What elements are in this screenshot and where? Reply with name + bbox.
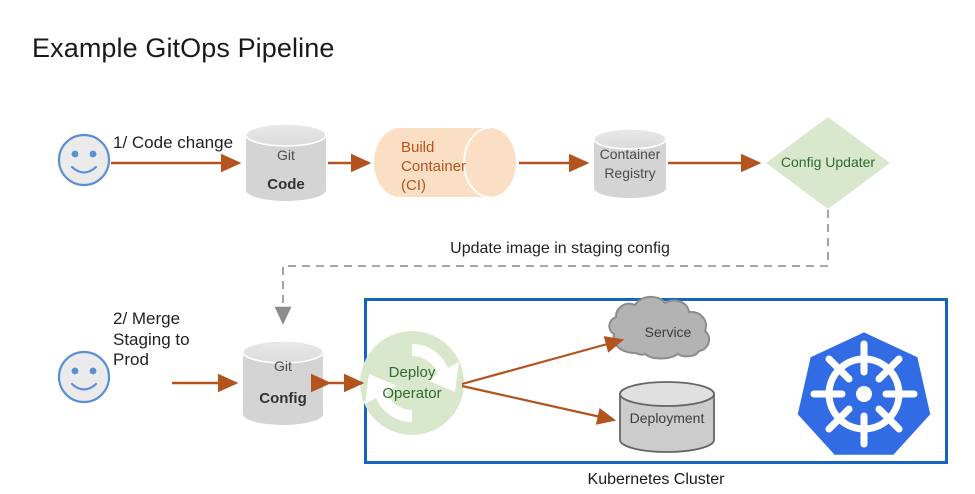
build-container-line-1: Build (401, 139, 434, 157)
kubernetes-logo-icon (798, 332, 930, 454)
smiley-face-icon-1 (59, 135, 109, 185)
git-config-cylinder (243, 341, 323, 425)
step-2-label: 2/ Merge Staging to Prod (113, 309, 190, 371)
kubernetes-cluster-label: Kubernetes Cluster (506, 470, 806, 490)
arrow-deploy-to-deployment (462, 386, 614, 420)
deploy-operator-line-1: Deploy (360, 364, 464, 382)
config-updater-label: Config Updater (766, 154, 890, 171)
deployment-label: Deployment (620, 410, 714, 427)
git-code-bottom-label: Code (246, 176, 326, 194)
service-label: Service (620, 324, 716, 341)
container-registry-cylinder (594, 129, 666, 198)
diagram-canvas: Example GitOps Pipeline (0, 0, 975, 494)
git-config-top-label: Git (243, 358, 323, 375)
build-container-line-3: (CI) (401, 177, 426, 195)
dashed-edge-label: Update image in staging config (430, 239, 690, 259)
build-container-line-2: Container (401, 158, 466, 176)
container-registry-line-2: Registry (594, 165, 666, 182)
smiley-face-icon-2 (59, 352, 109, 402)
container-registry-line-1: Container (594, 146, 666, 163)
step-1-label: 1/ Code change (113, 133, 233, 154)
deploy-operator-circle (360, 331, 464, 435)
git-config-bottom-label: Config (243, 390, 323, 408)
git-code-top-label: Git (246, 147, 326, 164)
deploy-operator-line-2: Operator (360, 385, 464, 403)
arrow-deploy-to-service (462, 340, 622, 384)
